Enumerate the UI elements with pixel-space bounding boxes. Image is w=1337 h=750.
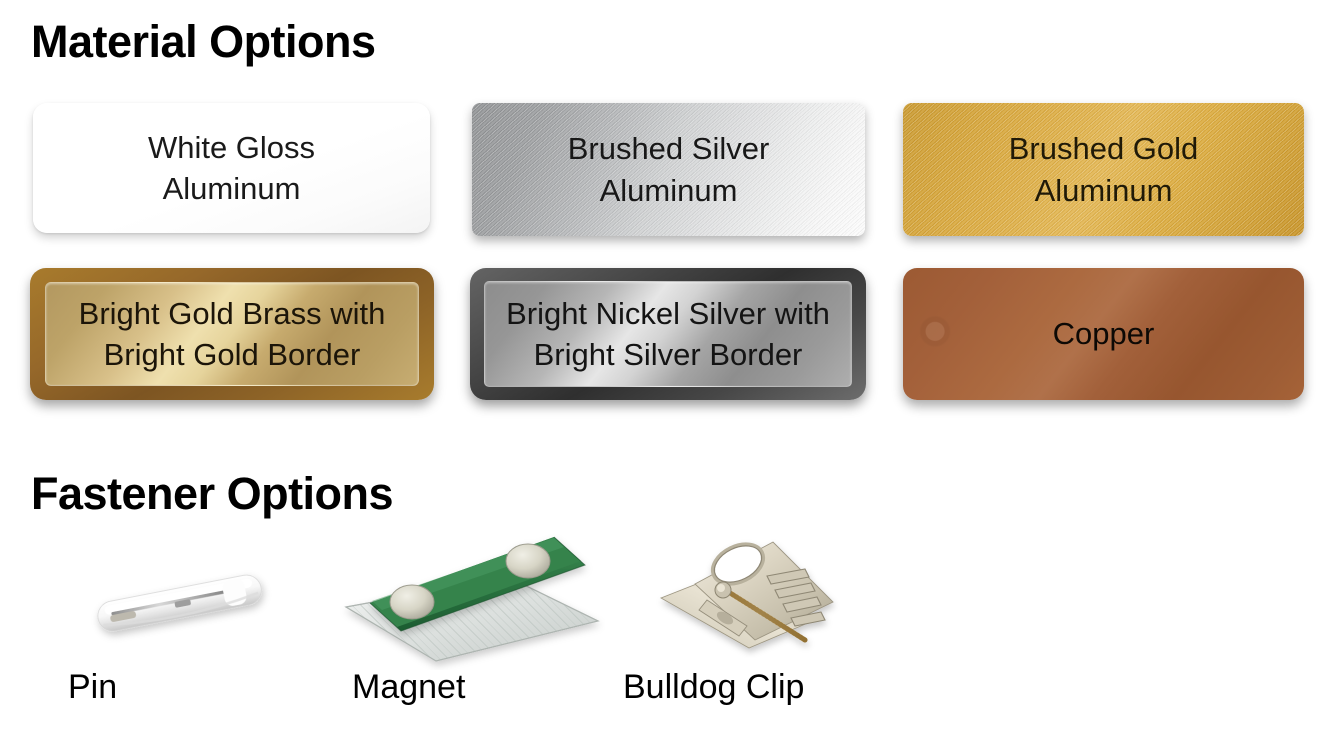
material-swatch-label: White Gloss Aluminum <box>148 127 315 209</box>
material-swatch-brushed-gold-aluminum[interactable]: Brushed Gold Aluminum <box>903 103 1304 236</box>
material-swatch-white-gloss-aluminum[interactable]: White Gloss Aluminum <box>33 103 430 233</box>
material-swatch-label: Copper <box>1053 313 1155 354</box>
material-swatch-bright-gold-brass[interactable]: Bright Gold Brass with Bright Gold Borde… <box>30 268 434 400</box>
material-swatch-bright-nickel-silver[interactable]: Bright Nickel Silver with Bright Silver … <box>470 268 866 400</box>
material-swatch-brushed-silver-aluminum[interactable]: Brushed Silver Aluminum <box>472 103 865 236</box>
fastener-caption-pin: Pin <box>68 668 117 707</box>
bulldog-clip-icon[interactable] <box>655 528 850 658</box>
fastener-options-heading: Fastener Options <box>31 468 393 520</box>
material-swatch-copper[interactable]: Copper <box>903 268 1304 400</box>
fastener-caption-magnet: Magnet <box>352 668 465 707</box>
material-swatch-label: Bright Nickel Silver with Bright Silver … <box>506 293 830 375</box>
magnet-bar-icon[interactable] <box>340 525 605 670</box>
fastener-caption-bulldog: Bulldog Clip <box>623 668 804 707</box>
material-swatch-label: Brushed Silver Aluminum <box>568 128 770 210</box>
material-options-heading: Material Options <box>31 16 376 68</box>
material-swatch-label: Bright Gold Brass with Bright Gold Borde… <box>79 293 386 375</box>
material-swatch-label: Brushed Gold Aluminum <box>1009 128 1199 210</box>
bar-pin-icon[interactable] <box>75 550 285 660</box>
